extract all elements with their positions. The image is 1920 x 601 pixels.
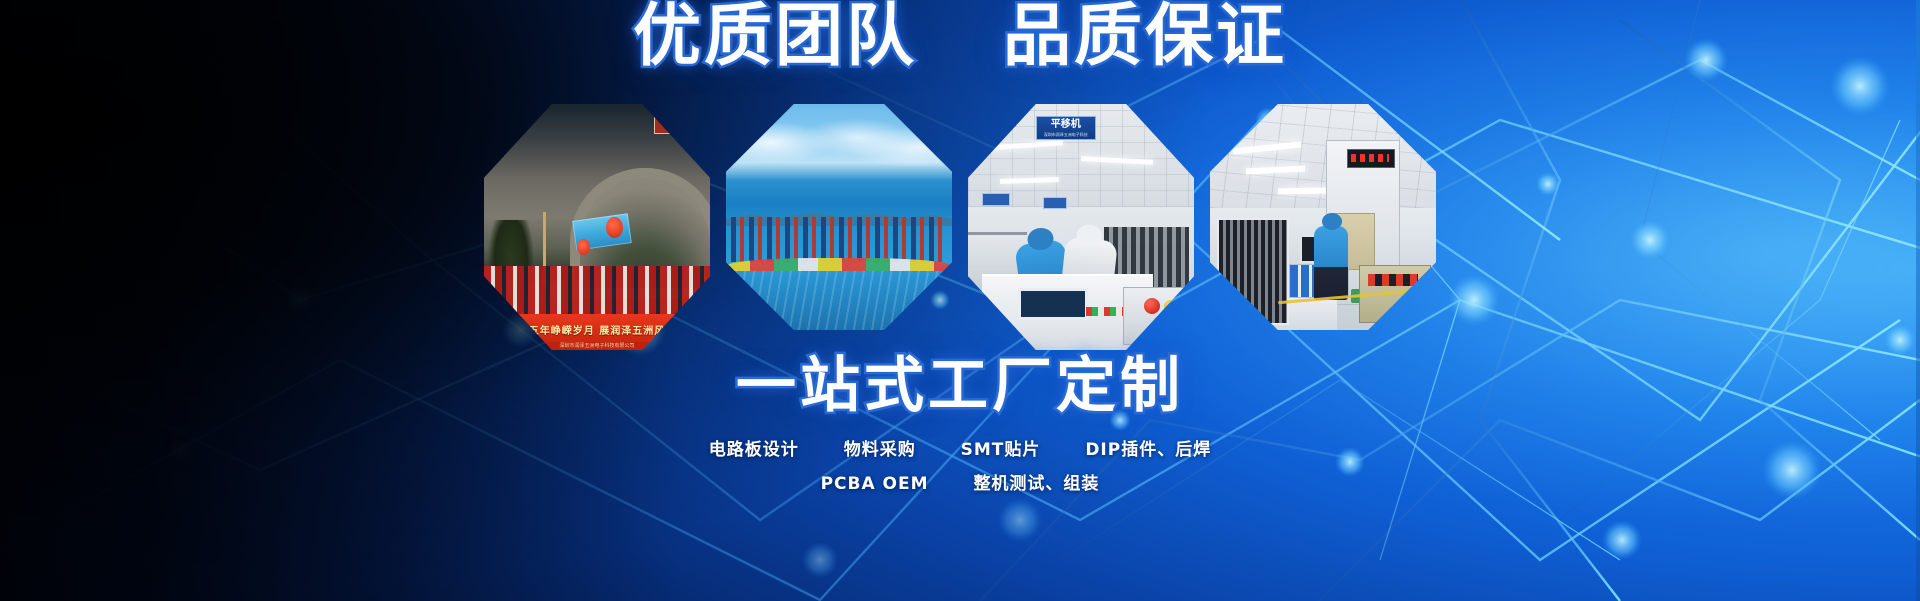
control-cabinet: [1123, 287, 1187, 345]
photo-cleanroom-production-line: [1210, 104, 1436, 330]
photo-team-outing-group-photo: 忆五年峥嵘岁月 展润泽五洲风采 深圳市润泽五洲电子科技有限公司: [484, 104, 710, 350]
photo-smt-workshop-operators: 平移机 深圳市润泽五洲电子科技: [968, 104, 1194, 350]
photo-banner-subtext: 深圳市润泽五洲电子科技有限公司: [484, 342, 710, 350]
promo-banner: 优质团队品质保证 忆五年峥嵘岁月 展润泽五洲风采 深圳市润泽五洲电子科技有限公司: [0, 0, 1920, 601]
sub-headline: 一站式工厂定制: [736, 352, 1184, 421]
sea-water: [726, 271, 952, 330]
service-item-assembly-testing: 整机测试、组装: [973, 469, 1099, 494]
photo-row: 忆五年峥嵘岁月 展润泽五洲风采 深圳市润泽五洲电子科技有限公司 平移机 深圳市润…: [0, 104, 1920, 350]
service-list: 电路板设计 物料采购 SMT贴片 DIP插件、后焊 PCBA OEM 整机测试、…: [0, 435, 1920, 494]
rowers-line: [731, 217, 948, 262]
service-row-2: PCBA OEM 整机测试、组装: [0, 469, 1920, 494]
service-row-1: 电路板设计 物料采购 SMT贴片 DIP插件、后焊: [0, 435, 1920, 460]
arch-name-plate: [654, 116, 698, 134]
inspection-panel: [1018, 288, 1088, 320]
sky-clouds: [726, 118, 952, 168]
emergency-stop-button: [1144, 298, 1160, 314]
lower-block: 一站式工厂定制 电路板设计 物料采购 SMT贴片 DIP插件、后焊 PCBA O…: [0, 352, 1920, 494]
service-item-material-sourcing: 物料采购: [844, 435, 916, 460]
service-item-pcba-oem: PCBA OEM: [821, 474, 929, 494]
photo-dragon-boat-team-activity: [726, 104, 952, 330]
service-item-smt: SMT贴片: [961, 435, 1041, 460]
red-lantern-icon-2: [577, 239, 590, 255]
temperature-display: [1347, 149, 1395, 168]
machine-sign-text: 平移机: [1051, 119, 1081, 130]
wall-sign-left: [982, 193, 1010, 206]
wall-sign-mid: [1043, 197, 1067, 209]
photo-banner-text: 忆五年峥嵘岁月 展润泽五洲风采: [484, 314, 710, 344]
start-button: [1164, 300, 1178, 314]
worker-blue-coat: [1314, 226, 1348, 300]
service-item-pcb-design: 电路板设计: [709, 435, 799, 460]
machine-sign-subtext: 深圳市润泽五洲电子科技: [1037, 132, 1095, 137]
ceiling-light-3: [1278, 187, 1328, 194]
machine-sign: 平移机 深圳市润泽五洲电子科技: [1036, 116, 1096, 140]
equipment-rack: [1217, 218, 1289, 326]
service-item-dip-soldering: DIP插件、后焊: [1085, 435, 1211, 460]
